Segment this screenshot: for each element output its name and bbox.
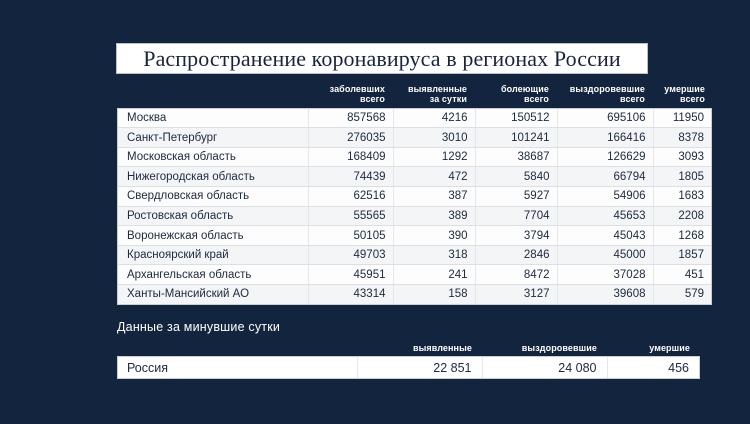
daily-section-title: Данные за минувшие сутки xyxy=(117,320,280,334)
cell-region: Нижегородская область xyxy=(118,167,308,187)
regions-table-body-frame: Москва 857568 4216 150512 695106 11950 С… xyxy=(117,108,712,305)
table-row[interactable]: Воронежская область 50105 390 3794 45043… xyxy=(118,226,711,246)
column-header-active: болеющие всего xyxy=(474,84,556,108)
header-line-2: всего xyxy=(474,94,549,104)
cell-deaths: 3093 xyxy=(653,147,711,167)
cell-total-cases: 857568 xyxy=(308,109,393,128)
cell-active: 8472 xyxy=(475,265,557,285)
header-line-2: всего xyxy=(307,94,385,104)
cell-new-cases: 241 xyxy=(393,265,475,285)
daily-column-header-new-cases: выявленные xyxy=(357,343,482,356)
cell-new-cases: 22 851 xyxy=(357,357,482,378)
cell-total-cases: 49703 xyxy=(308,245,393,265)
table-row[interactable]: Санкт-Петербург 276035 3010 101241 16641… xyxy=(118,128,711,148)
cell-region: Москва xyxy=(118,109,308,128)
cell-region: Россия xyxy=(118,357,357,378)
header-line-2: всего xyxy=(652,94,705,104)
cell-region: Архангельская область xyxy=(118,265,308,285)
table-row[interactable]: Ростовская область 55565 389 7704 45653 … xyxy=(118,206,711,226)
cell-deaths: 1268 xyxy=(653,226,711,246)
cell-deaths: 11950 xyxy=(653,109,711,128)
page-title-box: Распространение коронавируса в регионах … xyxy=(116,43,648,74)
cell-active: 3794 xyxy=(475,226,557,246)
table-row[interactable]: Ханты-Мансийский АО 43314 158 3127 39608… xyxy=(118,285,711,304)
cell-region: Ханты-Мансийский АО xyxy=(118,285,308,304)
daily-header-row: выявленные выздоровевшие умершие xyxy=(117,343,700,356)
table-row[interactable]: Москва 857568 4216 150512 695106 11950 xyxy=(118,109,711,128)
cell-active: 38687 xyxy=(475,147,557,167)
table-row[interactable]: Нижегородская область 74439 472 5840 667… xyxy=(118,167,711,187)
column-header-total-cases: заболевших всего xyxy=(307,84,392,108)
regions-rows: Москва 857568 4216 150512 695106 11950 С… xyxy=(118,109,711,304)
cell-deaths: 2208 xyxy=(653,206,711,226)
cell-new-cases: 1292 xyxy=(393,147,475,167)
table-row[interactable]: Россия 22 851 24 080 456 xyxy=(118,357,699,378)
cell-region: Санкт-Петербург xyxy=(118,128,308,148)
table-row[interactable]: Московская область 168409 1292 38687 126… xyxy=(118,147,711,167)
cell-total-cases: 50105 xyxy=(308,226,393,246)
table-row[interactable]: Архангельская область 45951 241 8472 370… xyxy=(118,265,711,285)
cell-recovered: 24 080 xyxy=(482,357,607,378)
column-header-region xyxy=(117,84,307,108)
cell-recovered: 39608 xyxy=(557,285,653,304)
daily-column-header-recovered: выздоровевшие xyxy=(482,343,607,356)
page-title: Распространение коронавируса в регионах … xyxy=(143,48,621,70)
cell-deaths: 8378 xyxy=(653,128,711,148)
cell-total-cases: 62516 xyxy=(308,187,393,207)
cell-total-cases: 168409 xyxy=(308,147,393,167)
cell-recovered: 126629 xyxy=(557,147,653,167)
cell-recovered: 45653 xyxy=(557,206,653,226)
cell-new-cases: 390 xyxy=(393,226,475,246)
cell-total-cases: 45951 xyxy=(308,265,393,285)
cell-recovered: 37028 xyxy=(557,265,653,285)
cell-recovered: 695106 xyxy=(557,109,653,128)
cell-total-cases: 276035 xyxy=(308,128,393,148)
daily-rows: Россия 22 851 24 080 456 xyxy=(118,357,699,378)
cell-deaths: 451 xyxy=(653,265,711,285)
cell-recovered: 54906 xyxy=(557,187,653,207)
cell-new-cases: 158 xyxy=(393,285,475,304)
cell-new-cases: 318 xyxy=(393,245,475,265)
cell-deaths: 1857 xyxy=(653,245,711,265)
cell-new-cases: 387 xyxy=(393,187,475,207)
cell-active: 5927 xyxy=(475,187,557,207)
cell-total-cases: 55565 xyxy=(308,206,393,226)
cell-active: 101241 xyxy=(475,128,557,148)
cell-region: Свердловская область xyxy=(118,187,308,207)
regions-table: заболевших всего выявленные за сутки бол… xyxy=(117,84,712,305)
daily-table-body: Россия 22 851 24 080 456 xyxy=(118,357,699,378)
cell-deaths: 456 xyxy=(607,357,699,378)
cell-deaths: 1683 xyxy=(653,187,711,207)
regions-table-header: заболевших всего выявленные за сутки бол… xyxy=(117,84,712,108)
column-header-deaths: умершие всего xyxy=(652,84,712,108)
cell-region: Ростовская область xyxy=(118,206,308,226)
cell-region: Красноярский край xyxy=(118,245,308,265)
cell-recovered: 166416 xyxy=(557,128,653,148)
column-header-recovered: выздоровевшие всего xyxy=(556,84,652,108)
header-line-1: выздоровевшие xyxy=(570,84,645,94)
cell-active: 2846 xyxy=(475,245,557,265)
header-line-2: за сутки xyxy=(392,94,467,104)
cell-active: 150512 xyxy=(475,109,557,128)
cell-new-cases: 389 xyxy=(393,206,475,226)
cell-deaths: 579 xyxy=(653,285,711,304)
cell-deaths: 1805 xyxy=(653,167,711,187)
cell-new-cases: 3010 xyxy=(393,128,475,148)
table-header-row: заболевших всего выявленные за сутки бол… xyxy=(117,84,712,108)
daily-table-body-frame: Россия 22 851 24 080 456 xyxy=(117,356,700,379)
header-line-1: выявленные xyxy=(408,84,467,94)
cell-recovered: 66794 xyxy=(557,167,653,187)
cell-region: Московская область xyxy=(118,147,308,167)
column-header-new-cases: выявленные за сутки xyxy=(392,84,474,108)
header-line-1: болеющие xyxy=(501,84,549,94)
cell-recovered: 45043 xyxy=(557,226,653,246)
daily-table-header: выявленные выздоровевшие умершие xyxy=(117,343,700,356)
cell-region: Воронежская область xyxy=(118,226,308,246)
header-line-2: всего xyxy=(556,94,645,104)
table-row[interactable]: Красноярский край 49703 318 2846 45000 1… xyxy=(118,245,711,265)
cell-active: 5840 xyxy=(475,167,557,187)
header-line-1: заболевших xyxy=(330,84,385,94)
table-row[interactable]: Свердловская область 62516 387 5927 5490… xyxy=(118,187,711,207)
cell-total-cases: 43314 xyxy=(308,285,393,304)
regions-table-body: Москва 857568 4216 150512 695106 11950 С… xyxy=(118,109,711,304)
daily-table: выявленные выздоровевшие умершие Россия … xyxy=(117,343,700,379)
cell-active: 3127 xyxy=(475,285,557,304)
cell-new-cases: 4216 xyxy=(393,109,475,128)
header-line-1: умершие xyxy=(664,84,705,94)
daily-column-header-region xyxy=(117,343,357,356)
daily-column-header-deaths: умершие xyxy=(607,343,700,356)
cell-total-cases: 74439 xyxy=(308,167,393,187)
cell-recovered: 45000 xyxy=(557,245,653,265)
cell-new-cases: 472 xyxy=(393,167,475,187)
cell-active: 7704 xyxy=(475,206,557,226)
